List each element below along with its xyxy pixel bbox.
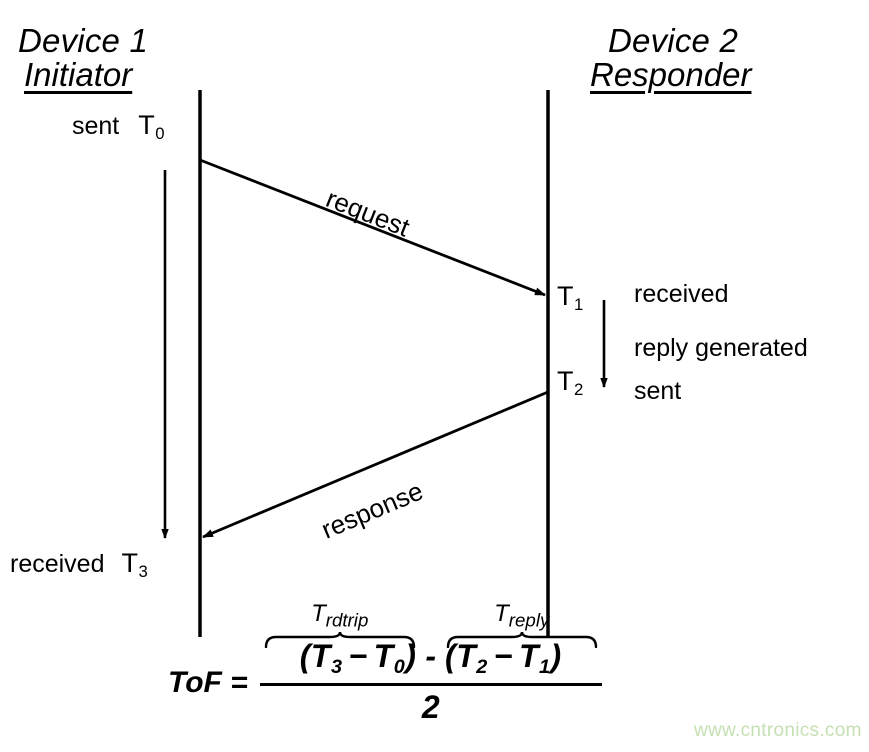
device2-event-received: received xyxy=(634,281,729,309)
device1-t3-symbol: T3 xyxy=(121,548,147,578)
device2-event-sent: sent xyxy=(634,378,681,406)
device2-t2-index: 2 xyxy=(574,380,583,399)
brace-label-reply: Treply xyxy=(494,602,549,630)
device1-received-text: received xyxy=(10,550,105,578)
tof-fraction: Trdtrip Treply (T3−T0) - (T2−T1) xyxy=(260,596,602,726)
device2-t2-symbol: T2 xyxy=(557,368,583,398)
numerator-right-group: (T2−T1) xyxy=(445,638,562,679)
device1-sent-label: sent T0 xyxy=(72,112,165,142)
numerator-left-group: (T3−T0) xyxy=(300,638,417,679)
watermark: www.cntronics.com xyxy=(694,720,862,742)
device2-t1-symbol: T1 xyxy=(557,283,583,313)
brace-label-rdtrip: Trdtrip xyxy=(311,602,368,630)
tof-denominator: 2 xyxy=(260,686,602,726)
device1-t0-index: 0 xyxy=(155,124,164,143)
device2-t1-index: 1 xyxy=(574,295,583,314)
device1-received-label: received T3 xyxy=(10,550,148,580)
device1-t3-index: 3 xyxy=(138,562,147,581)
tof-formula: ToF = Trdtrip Treply ( xyxy=(168,596,602,726)
device2-event-reply-generated: reply generated xyxy=(634,335,808,363)
device1-t0-symbol: T0 xyxy=(138,110,164,140)
tof-numerator: (T3−T0) - (T2−T1) xyxy=(260,638,602,683)
device1-sent-text: sent xyxy=(72,112,119,140)
tof-lhs: ToF = xyxy=(168,666,248,726)
diagram-canvas: Device 1 Initiator Device 2 Responder se… xyxy=(0,0,869,752)
numerator-operator: - xyxy=(425,638,436,675)
